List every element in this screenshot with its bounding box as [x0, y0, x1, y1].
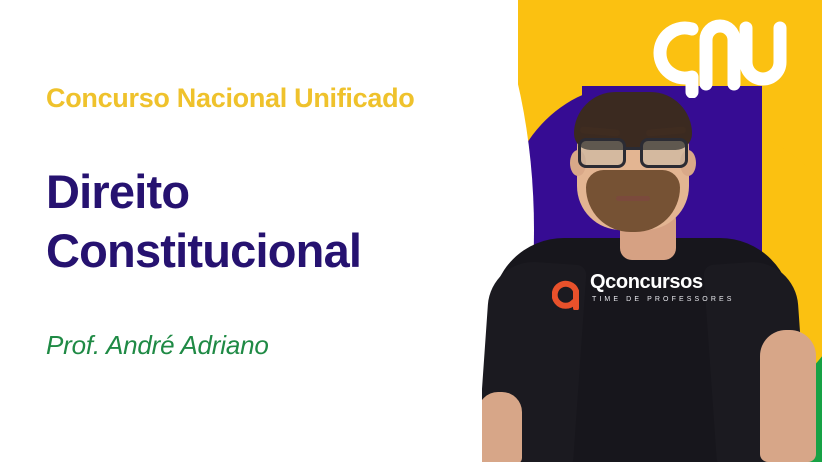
- shirt-tagline-text: TIME DE PROFESSORES: [592, 296, 735, 303]
- instructor-name: Prof. André Adriano: [46, 330, 269, 361]
- title-line-2: Constitucional: [46, 222, 361, 281]
- instructor-photo: Qconcursos TIME DE PROFESSORES: [482, 0, 822, 462]
- shirt-print: Qconcursos TIME DE PROFESSORES: [552, 272, 742, 316]
- page-title: Direito Constitucional: [46, 163, 361, 281]
- text-column: Concurso Nacional Unificado Direito Cons…: [46, 0, 516, 462]
- lens-right: [640, 138, 688, 168]
- shirt-brand-text: Qconcursos: [590, 272, 703, 292]
- glasses-icon: [574, 138, 694, 168]
- eyebrow-label: Concurso Nacional Unificado: [46, 83, 414, 114]
- title-line-1: Direito: [46, 163, 361, 222]
- q-logo-icon: [552, 278, 582, 310]
- mouth: [616, 196, 650, 201]
- decorative-art-panel: Qconcursos TIME DE PROFESSORES: [482, 0, 822, 462]
- lens-left: [578, 138, 626, 168]
- course-title-slide: Qconcursos TIME DE PROFESSORES Concurso …: [0, 0, 822, 462]
- arm-right: [760, 330, 816, 462]
